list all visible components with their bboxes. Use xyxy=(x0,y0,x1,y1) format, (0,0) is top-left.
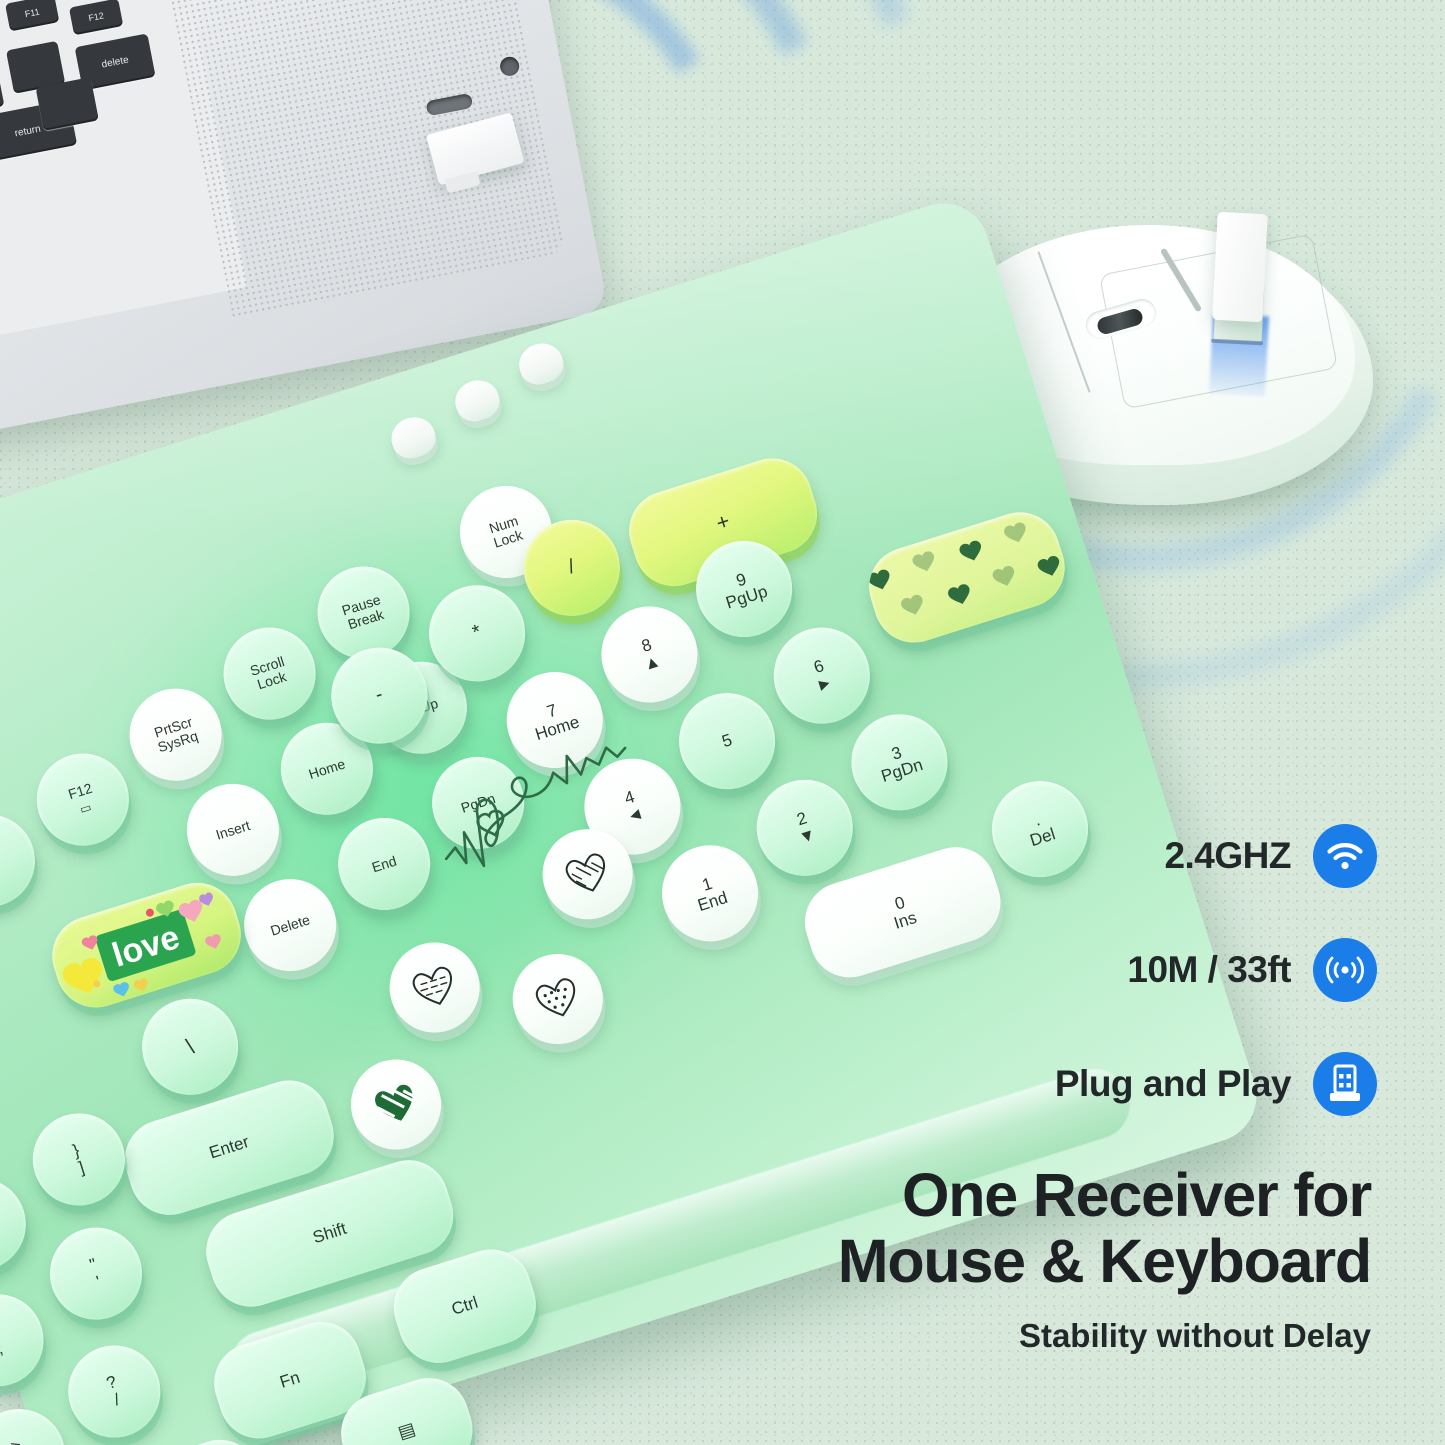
key-numpad-5[interactable]: 5 xyxy=(667,681,787,801)
menu-icon: ▤ xyxy=(396,1420,418,1443)
love-sticker-icon: love xyxy=(42,873,251,1018)
sticker-label: love xyxy=(108,918,184,975)
key-numpad-3[interactable]: 3 PgDn xyxy=(839,702,959,822)
key-arrow-left-heart[interactable] xyxy=(340,1048,453,1161)
hatched-heart-icon xyxy=(562,850,613,899)
key-numpad-2[interactable]: 2 ▼ xyxy=(745,768,865,888)
signal-waves-icon xyxy=(1313,938,1377,1002)
key-greater-period[interactable]: > . xyxy=(0,1397,77,1445)
key-ctrl[interactable]: Ctrl xyxy=(384,1239,546,1373)
indicator-led xyxy=(514,338,568,389)
feature-list: 2.4GHZ 10M / 33ft xyxy=(1067,820,1377,1162)
feature-label-plug-play: Plug and Play xyxy=(1055,1063,1291,1105)
usb-receiver-icon xyxy=(1313,1052,1377,1116)
key-backslash[interactable]: \ xyxy=(130,987,250,1107)
feature-row-range: 10M / 33ft xyxy=(1067,934,1377,1006)
striped-heart-icon xyxy=(409,963,460,1012)
key-backspace-love-sticker[interactable]: love xyxy=(42,873,251,1018)
dotted-heart-icon xyxy=(532,975,583,1024)
laptop-key-f11[interactable]: F11 xyxy=(5,0,59,31)
key-end[interactable]: End xyxy=(326,806,441,921)
key-arrow-up-heart[interactable] xyxy=(378,931,491,1044)
feature-row-frequency: 2.4GHZ xyxy=(1067,820,1377,892)
indicator-led xyxy=(386,412,440,463)
headline-line-2: Mouse & Keyboard xyxy=(838,1227,1371,1295)
product-marketing-image: O P L F10 F11 F12 delete return shift xyxy=(0,0,1445,1445)
key-question-slash[interactable]: ? / xyxy=(57,1334,172,1445)
headline-line-1: One Receiver for xyxy=(902,1161,1371,1229)
wifi-icon xyxy=(1313,824,1377,888)
filled-striped-heart-icon xyxy=(370,1080,421,1129)
key-numpad-8[interactable]: 8 ▲ xyxy=(589,594,709,714)
key-prtscr-sysrq[interactable]: PrtScr SysRq xyxy=(118,677,233,792)
key-arrow-down-heart[interactable] xyxy=(501,943,614,1056)
screen-icon: ▭ xyxy=(78,801,93,817)
laptop-key-bracket[interactable] xyxy=(0,63,4,116)
key-bracket-open[interactable]: { [ xyxy=(0,1167,37,1282)
key-f11[interactable]: F11 ▬ xyxy=(0,803,47,918)
headline-subtitle: Stability without Delay xyxy=(731,1317,1371,1355)
key-insert[interactable]: Insert xyxy=(175,772,290,887)
indicator-led xyxy=(450,375,504,426)
key-scroll-lock[interactable]: Scroll Lock xyxy=(212,616,327,731)
laptop-key-backslash[interactable] xyxy=(36,77,99,131)
feature-label-frequency: 2.4GHZ xyxy=(1164,835,1291,877)
feature-row-plug-play: Plug and Play xyxy=(1067,1048,1377,1120)
headline-block: One Receiver for Mouse & Keyboard Stabil… xyxy=(731,1162,1371,1355)
heart-pattern-icon xyxy=(859,502,1075,652)
laptop-key-f12[interactable]: F12 xyxy=(69,0,123,35)
key-numpad-1[interactable]: 1 End xyxy=(650,833,770,953)
headline-title: One Receiver for Mouse & Keyboard xyxy=(731,1162,1371,1295)
key-bracket-close[interactable]: } ] xyxy=(21,1102,136,1217)
key-delete[interactable]: Delete xyxy=(232,867,347,982)
key-f12[interactable]: F12 ▭ xyxy=(25,742,140,857)
key-colon-semicolon[interactable]: : ; xyxy=(0,1283,55,1398)
key-quote[interactable]: " ' xyxy=(38,1216,153,1331)
usb-receiver-icon xyxy=(1212,212,1268,322)
key-numpad-6[interactable]: 6 ► xyxy=(762,615,882,735)
feature-label-range: 10M / 33ft xyxy=(1127,949,1291,991)
key-numpad-enter-heart-pattern[interactable] xyxy=(859,502,1075,652)
